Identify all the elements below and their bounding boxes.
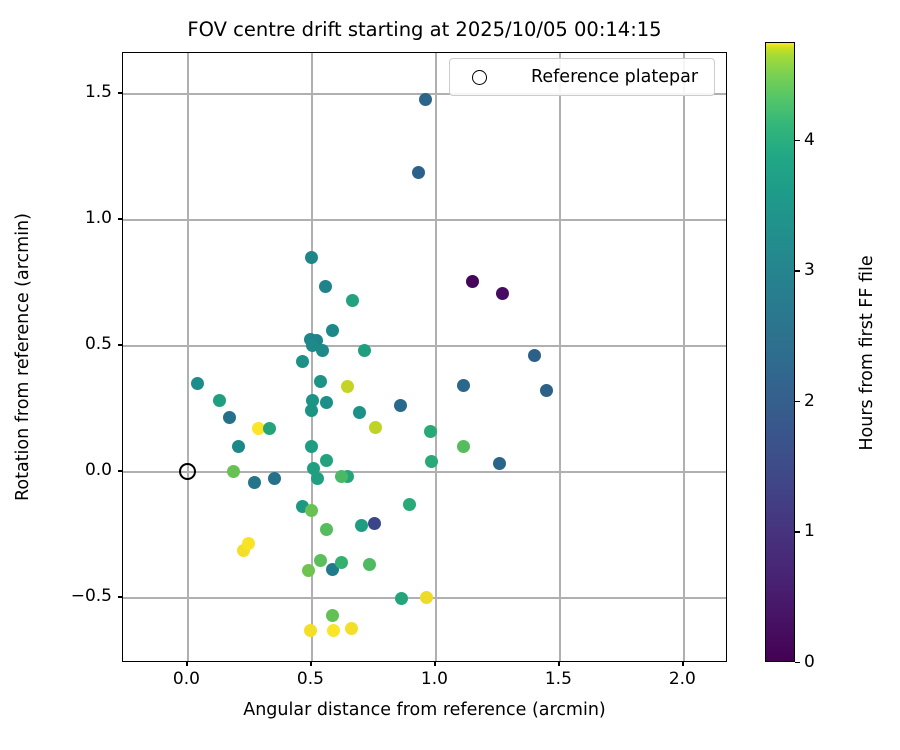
scatter-point: [191, 377, 204, 390]
legend: Reference platepar: [449, 58, 715, 96]
colorbar-tick-label: 4: [804, 130, 834, 150]
scatter-point: [457, 379, 470, 392]
reference-platepar-marker: [179, 463, 196, 480]
gridline-horizontal: [123, 219, 726, 220]
scatter-point: [242, 537, 255, 550]
scatter-point: [355, 519, 368, 532]
scatter-point: [346, 294, 359, 307]
scatter-point: [528, 349, 541, 362]
gridline-horizontal: [123, 345, 726, 346]
colorbar-tick: [795, 531, 800, 532]
scatter-point: [353, 406, 366, 419]
gridline-vertical: [435, 53, 436, 661]
y-axis-tick-label: −0.5: [44, 586, 112, 606]
scatter-point: [232, 440, 245, 453]
y-axis-tick: [118, 470, 122, 471]
scatter-point: [268, 472, 281, 485]
y-axis-tick-label: 0.5: [44, 334, 112, 354]
scatter-point: [358, 344, 371, 357]
colorbar-tick-label: 2: [804, 391, 834, 411]
colorbar-tick-label: 1: [804, 521, 834, 541]
colorbar-tick: [795, 270, 800, 271]
y-axis-tick: [118, 344, 122, 345]
x-axis-tick-label: 1.0: [404, 669, 464, 689]
colorbar-label: Hours from first FF file: [856, 43, 878, 663]
colorbar-tick: [795, 662, 800, 663]
scatter-point: [305, 404, 318, 417]
scatter-point: [296, 355, 309, 368]
x-axis-tick-label: 2.0: [652, 669, 712, 689]
scatter-point: [420, 591, 433, 604]
scatter-point: [457, 440, 470, 453]
legend-label-reference-platepar: Reference platepar: [531, 67, 698, 87]
scatter-point: [363, 558, 376, 571]
y-axis-tick-label: 1.0: [44, 208, 112, 228]
y-axis-tick: [118, 92, 122, 93]
scatter-point: [327, 624, 340, 637]
scatter-point: [314, 375, 327, 388]
scatter-point: [305, 504, 318, 517]
scatter-point: [369, 421, 382, 434]
x-axis-tick: [434, 662, 435, 666]
scatter-point: [223, 411, 236, 424]
x-axis-tick-label: 0.5: [280, 669, 340, 689]
scatter-point: [368, 517, 381, 530]
scatter-point: [395, 592, 408, 605]
scatter-point: [320, 454, 333, 467]
colorbar-tick: [795, 140, 800, 141]
y-axis-tick-label: 1.5: [44, 82, 112, 102]
plot-axes: [122, 52, 727, 662]
scatter-point: [425, 455, 438, 468]
legend-marker-reference-platepar: [472, 70, 487, 85]
scatter-point: [326, 609, 339, 622]
x-axis-label: Angular distance from reference (arcmin): [122, 699, 727, 721]
scatter-point: [335, 470, 348, 483]
x-axis-tick-label: 0.0: [156, 669, 216, 689]
colorbar-tick: [795, 401, 800, 402]
scatter-point: [496, 287, 509, 300]
scatter-point: [394, 399, 407, 412]
scatter-point: [320, 396, 333, 409]
scatter-point: [493, 457, 506, 470]
x-axis-tick: [186, 662, 187, 666]
scatter-point: [466, 275, 479, 288]
plot-area: [123, 53, 726, 661]
colorbar-tick-label: 0: [804, 652, 834, 672]
scatter-point: [424, 425, 437, 438]
colorbar-tick-label: 3: [804, 260, 834, 280]
scatter-point: [227, 465, 240, 478]
scatter-point: [263, 422, 276, 435]
scatter-point: [311, 472, 324, 485]
scatter-point: [412, 166, 425, 179]
scatter-point: [305, 251, 318, 264]
figure-canvas: FOV centre drift starting at 2025/10/05 …: [0, 0, 900, 750]
scatter-point: [316, 344, 329, 357]
scatter-point: [320, 523, 333, 536]
scatter-point: [540, 384, 553, 397]
page-title: FOV centre drift starting at 2025/10/05 …: [122, 18, 727, 42]
y-axis-tick: [118, 596, 122, 597]
scatter-point: [419, 93, 432, 106]
gridline-vertical: [559, 53, 560, 661]
scatter-point: [326, 324, 339, 337]
scatter-point: [302, 564, 315, 577]
x-axis-tick: [310, 662, 311, 666]
x-axis-tick: [682, 662, 683, 666]
scatter-point: [248, 476, 261, 489]
gridline-vertical: [187, 53, 188, 661]
scatter-point: [314, 554, 327, 567]
scatter-point: [305, 440, 318, 453]
gridline-horizontal: [123, 471, 726, 472]
scatter-point: [341, 380, 354, 393]
x-axis-tick: [558, 662, 559, 666]
scatter-point: [335, 556, 348, 569]
colorbar-gradient: [765, 42, 795, 662]
scatter-point: [345, 622, 358, 635]
colorbar: [765, 42, 795, 662]
y-axis-tick: [118, 218, 122, 219]
x-axis-tick-label: 1.5: [528, 669, 588, 689]
y-axis-label: Rotation from reference (arcmin): [12, 52, 34, 662]
gridline-vertical: [683, 53, 684, 661]
scatter-point: [304, 624, 317, 637]
scatter-point: [213, 394, 226, 407]
scatter-point: [403, 498, 416, 511]
y-axis-tick-label: 0.0: [44, 460, 112, 480]
scatter-point: [319, 280, 332, 293]
